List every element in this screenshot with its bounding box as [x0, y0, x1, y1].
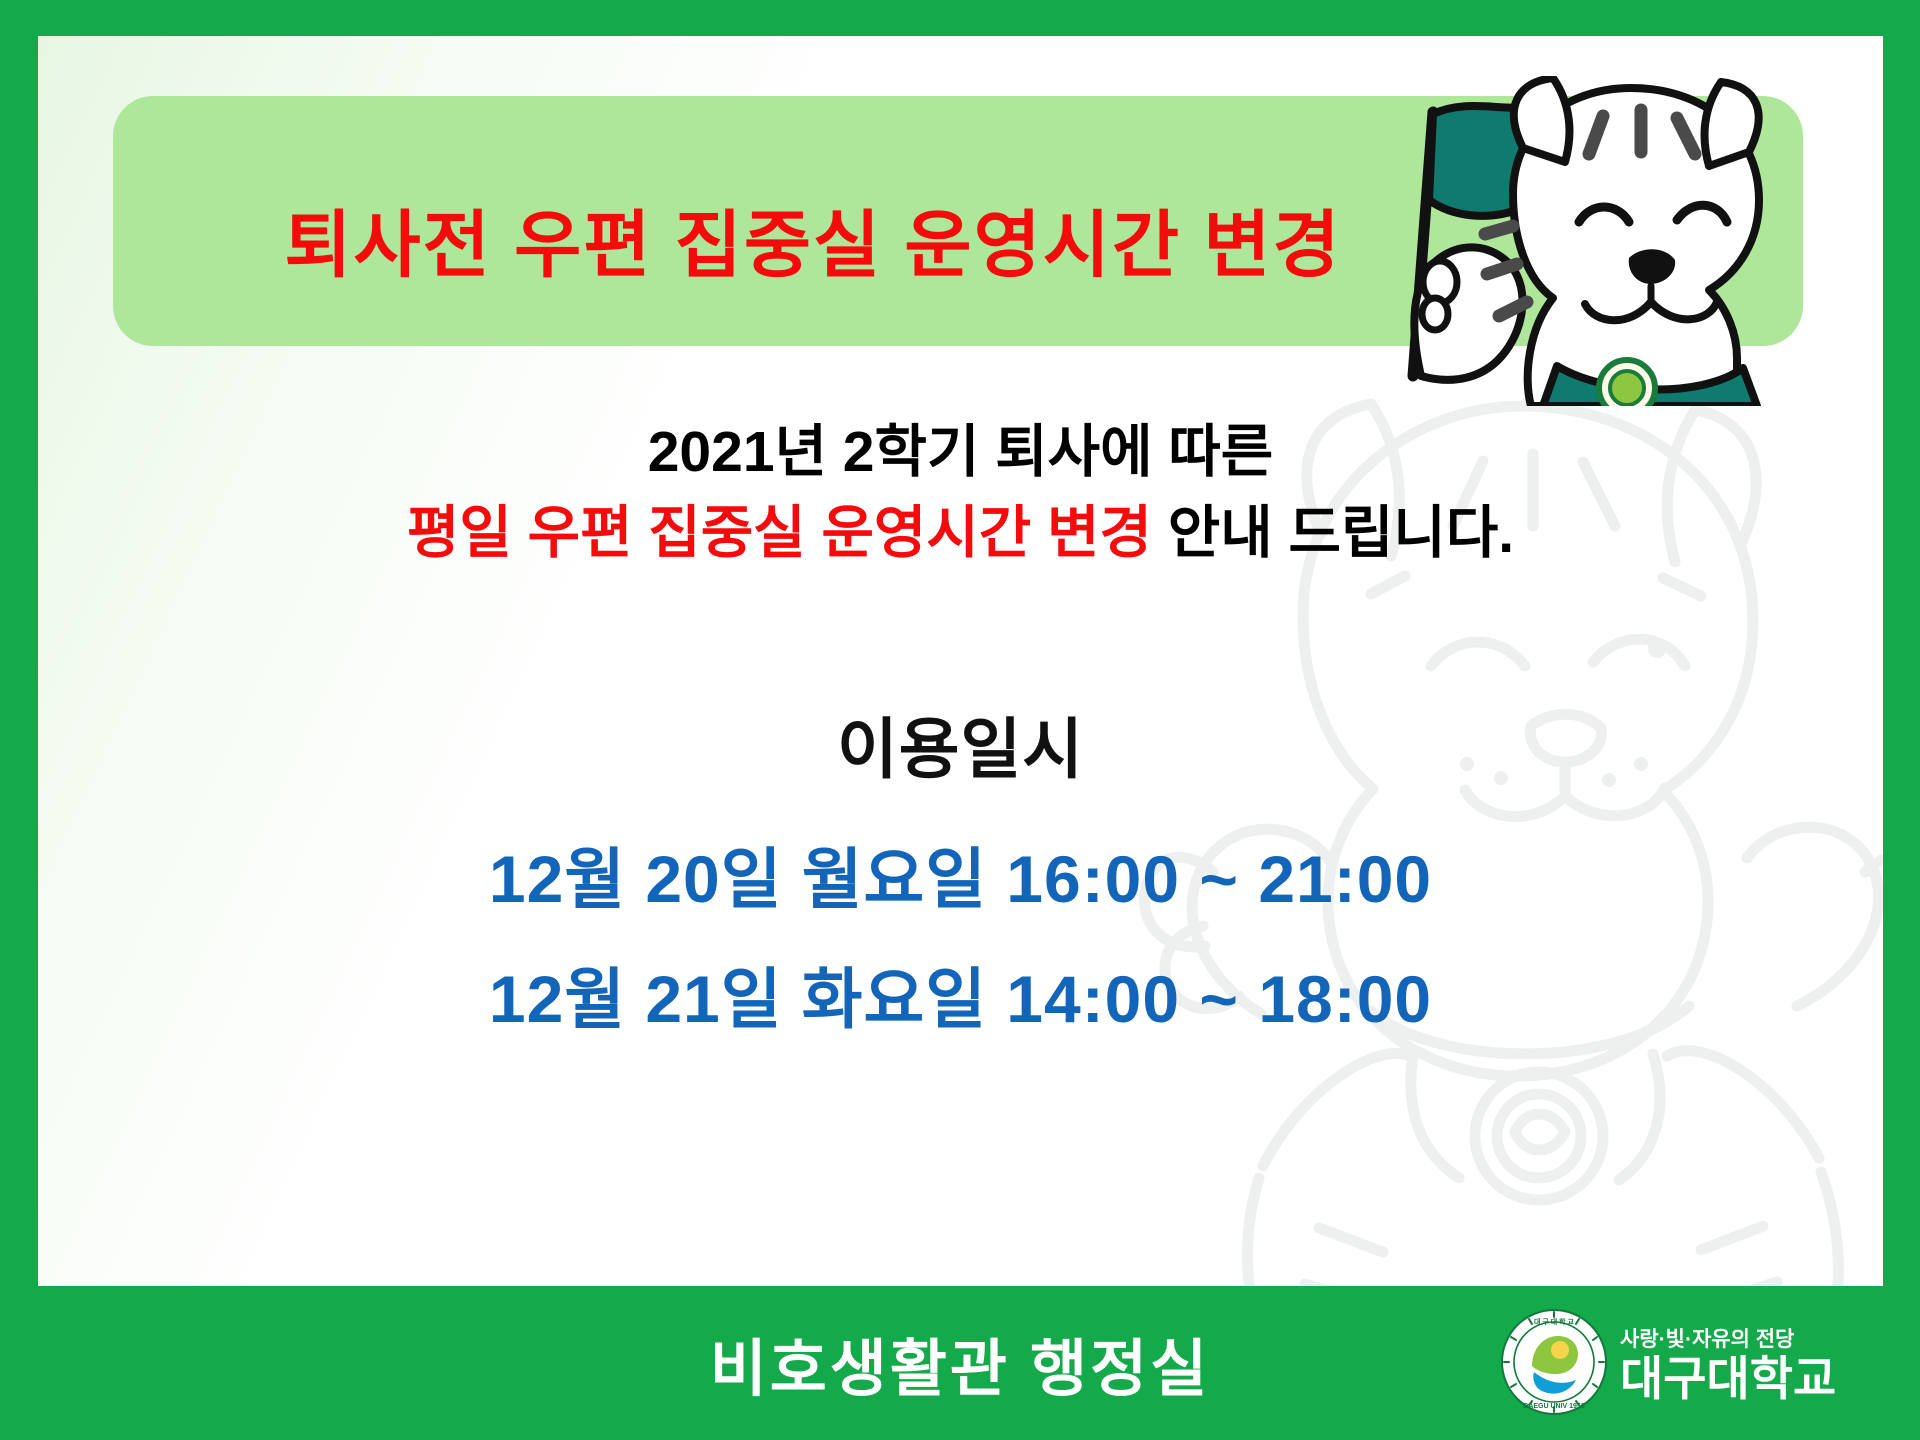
logo-university-name: 대구대학교: [1620, 1355, 1836, 1402]
schedule-entry-1: 12월 20일 월요일 16:00 ~ 21:00: [38, 826, 1883, 922]
white-tiger-with-flag-icon: [1317, 76, 1787, 406]
body-line-2-highlight: 평일 우편 집중실 운영시간 변경: [407, 501, 1152, 565]
schedule-entry-2: 12월 21일 화요일 14:00 ~ 18:00: [38, 946, 1883, 1042]
body-line-2-tail: 안내 드립니다.: [1152, 501, 1514, 565]
usage-datetime-heading: 이용일시: [38, 696, 1883, 792]
page-title: 퇴사전 우편 집중실 운영시간 변경: [113, 186, 1513, 292]
svg-text:DAEGU UNIV 1956: DAEGU UNIV 1956: [1523, 1403, 1585, 1410]
body-line-1: 2021년 2학기 퇴사에 따른: [38, 416, 1883, 489]
body-line-2: 평일 우편 집중실 운영시간 변경 안내 드립니다.: [38, 489, 1883, 577]
announcement-body: 2021년 2학기 퇴사에 따른 평일 우편 집중실 운영시간 변경 안내 드립…: [38, 416, 1883, 577]
svg-text:대 구 대 학 교: 대 구 대 학 교: [1534, 1317, 1575, 1326]
daegu-university-emblem-icon: 대 구 대 학 교 DAEGU UNIV 1956: [1500, 1308, 1608, 1416]
title-banner: 퇴사전 우편 집중실 운영시간 변경: [113, 96, 1803, 346]
poster-root: 퇴사전 우편 집중실 운영시간 변경: [0, 0, 1920, 1440]
university-logo: 대 구 대 학 교 DAEGU UNIV 1956 사랑·빛·자유의 전당 대구…: [1500, 1302, 1860, 1422]
footer-bar: 비호생활관 행정실 대 구 대 학 교 DAEGU UNIV 1956: [0, 1290, 1920, 1440]
poster-content-card: 퇴사전 우편 집중실 운영시간 변경: [38, 36, 1883, 1286]
logo-tagline: 사랑·빛·자유의 전당: [1620, 1323, 1836, 1353]
